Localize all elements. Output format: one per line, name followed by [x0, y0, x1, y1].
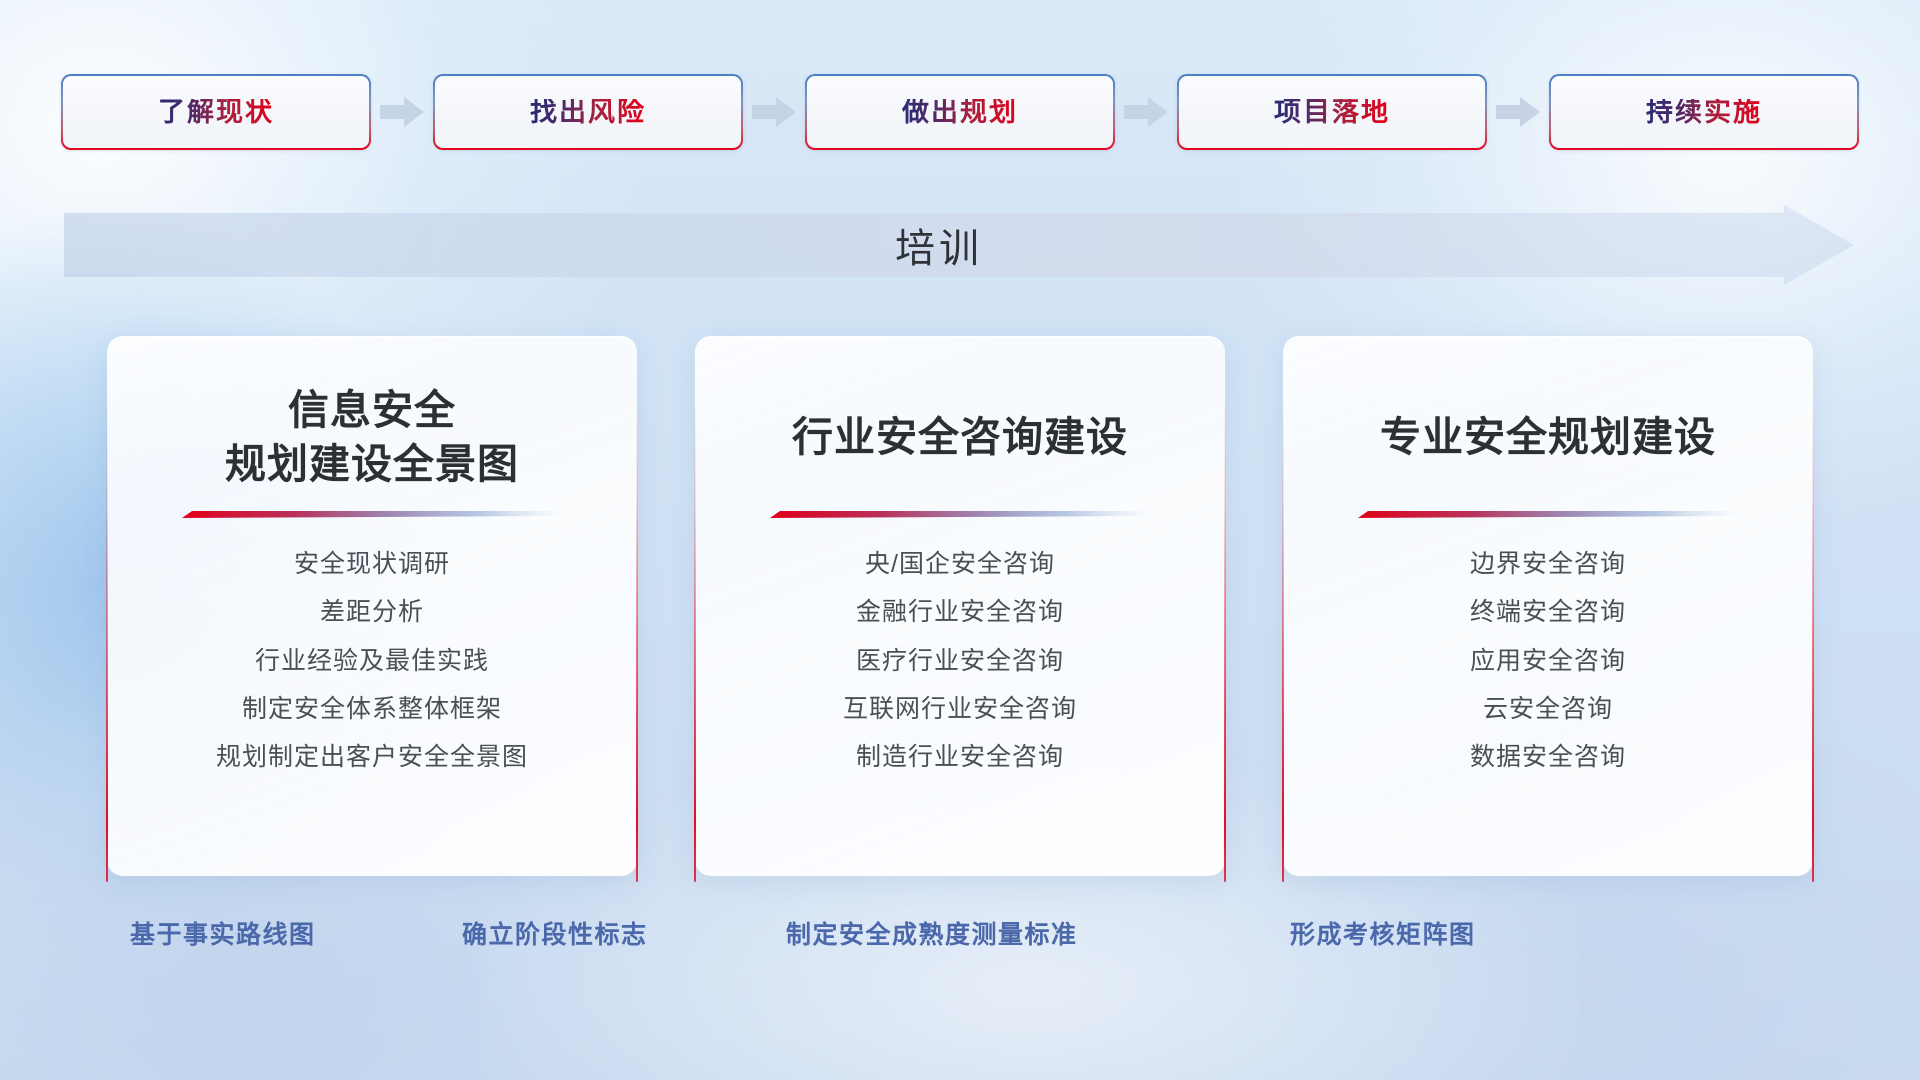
list-item: 央/国企安全咨询 [865, 549, 1055, 580]
card-professional-security-planning[interactable]: 专业安全规划建设 边界安 [1283, 336, 1813, 876]
card-3-title-line1: 专业安全规划建设 [1380, 410, 1716, 464]
list-item: 应用安全咨询 [1470, 646, 1626, 677]
card-2-title: 行业安全咨询建设 [792, 383, 1128, 491]
list-item: 终端安全咨询 [1470, 597, 1626, 628]
process-step-2-label: 找出风险 [530, 99, 646, 126]
footer-label-roadmap: 基于事实路线图 [130, 915, 316, 951]
card-2-gradient-divider [770, 509, 1150, 519]
list-item: 制定安全体系整体框架 [242, 694, 502, 725]
cards-row: 信息安全 规划建设全景图 [0, 336, 1920, 876]
list-item: 互联网行业安全咨询 [843, 694, 1077, 725]
card-1-title-line2: 规划建设全景图 [225, 441, 519, 487]
list-item: 安全现状调研 [294, 549, 450, 580]
card-3-body: 专业安全规划建设 边界安 [1283, 337, 1813, 876]
card-1-title-line1: 信息安全 [288, 387, 456, 433]
process-step-2-inner: 找出风险 [435, 76, 741, 148]
list-item: 差距分析 [320, 597, 424, 628]
footer-labels-row: 基于事实路线图 确立阶段性标志 制定安全成熟度测量标准 形成考核矩阵图 [0, 915, 1920, 965]
process-steps-row: 了解现状 找出风险 做出规划 项目落地 [0, 74, 1920, 150]
list-item: 制造行业安全咨询 [856, 742, 1064, 773]
list-item: 边界安全咨询 [1470, 549, 1626, 580]
process-step-4[interactable]: 项目落地 [1177, 74, 1487, 150]
card-information-security-blueprint[interactable]: 信息安全 规划建设全景图 [107, 336, 637, 876]
card-1-gradient-divider [182, 509, 562, 519]
footer-label-matrix: 形成考核矩阵图 [1290, 915, 1476, 951]
process-step-5-label: 持续实施 [1646, 99, 1762, 126]
process-step-4-inner: 项目落地 [1179, 76, 1485, 148]
card-2-title-line1: 行业安全咨询建设 [792, 410, 1128, 464]
list-item: 医疗行业安全咨询 [856, 646, 1064, 677]
card-1-item-list: 安全现状调研 差距分析 行业经验及最佳实践 制定安全体系整体框架 规划制定出客户… [216, 549, 528, 773]
card-1-title: 信息安全 规划建设全景图 [225, 383, 519, 491]
chevron-right-arrow-icon [1487, 92, 1549, 132]
card-industry-security-consulting[interactable]: 行业安全咨询建设 央/国 [695, 336, 1225, 876]
list-item: 数据安全咨询 [1470, 742, 1626, 773]
process-step-5-inner: 持续实施 [1551, 76, 1857, 148]
process-step-2[interactable]: 找出风险 [433, 74, 743, 150]
chevron-right-arrow-icon [743, 92, 805, 132]
card-3-item-list: 边界安全咨询 终端安全咨询 应用安全咨询 云安全咨询 数据安全咨询 [1470, 549, 1626, 773]
chevron-right-arrow-icon [371, 92, 433, 132]
footer-label-milestones: 确立阶段性标志 [462, 915, 648, 951]
training-banner-title: 培训 [64, 205, 1854, 285]
process-step-3-label: 做出规划 [902, 99, 1018, 126]
card-3-title: 专业安全规划建设 [1380, 383, 1716, 491]
process-step-1-inner: 了解现状 [63, 76, 369, 148]
card-2-body: 行业安全咨询建设 央/国 [695, 337, 1225, 876]
process-step-3-inner: 做出规划 [807, 76, 1113, 148]
process-step-3[interactable]: 做出规划 [805, 74, 1115, 150]
card-1-body: 信息安全 规划建设全景图 [107, 337, 637, 876]
list-item: 云安全咨询 [1483, 694, 1613, 725]
list-item: 金融行业安全咨询 [856, 597, 1064, 628]
training-banner: 培训 [64, 205, 1854, 285]
card-3-gradient-divider [1358, 509, 1738, 519]
process-step-1[interactable]: 了解现状 [61, 74, 371, 150]
chevron-right-arrow-icon [1115, 92, 1177, 132]
process-step-5[interactable]: 持续实施 [1549, 74, 1859, 150]
process-step-4-label: 项目落地 [1274, 99, 1390, 126]
card-2-item-list: 央/国企安全咨询 金融行业安全咨询 医疗行业安全咨询 互联网行业安全咨询 制造行… [843, 549, 1077, 773]
process-step-1-label: 了解现状 [158, 99, 274, 126]
list-item: 规划制定出客户安全全景图 [216, 742, 528, 773]
list-item: 行业经验及最佳实践 [255, 646, 489, 677]
footer-label-maturity: 制定安全成熟度测量标准 [786, 915, 1078, 951]
